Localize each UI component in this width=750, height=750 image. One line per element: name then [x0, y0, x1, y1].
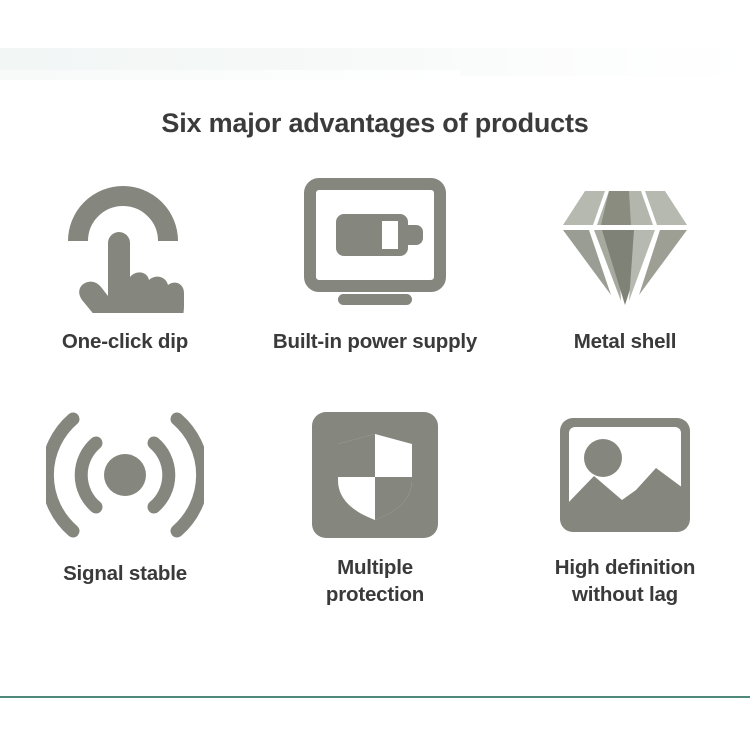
promo-feature-panel: Six major advantages of products One-cli…: [0, 0, 750, 750]
feature-item-metal-shell: Metal shell: [500, 168, 750, 400]
feature-item-high-definition: High definition without lag: [500, 400, 750, 632]
diamond-gem-icon: [559, 168, 691, 318]
feature-grid: One-click dip: [0, 168, 750, 632]
feature-label: Built-in power supply: [273, 328, 477, 355]
feature-label: Multiple protection: [326, 554, 424, 608]
feature-label: One-click dip: [62, 328, 188, 355]
feature-item-built-in-power-supply: Built-in power supply: [250, 168, 500, 400]
feature-label: Signal stable: [63, 560, 187, 587]
feature-label-line: protection: [326, 581, 424, 608]
top-accent-band-secondary: [0, 70, 460, 80]
feature-label: Metal shell: [574, 328, 677, 355]
bottom-divider: [0, 696, 750, 698]
feature-row-2: Signal stable: [0, 400, 750, 632]
feature-item-one-click-dip: One-click dip: [0, 168, 250, 400]
feature-label-line: High definition: [555, 554, 695, 581]
feature-item-multiple-protection: Multiple protection: [250, 400, 500, 632]
feature-label: High definition without lag: [555, 554, 695, 608]
feature-label-line: without lag: [555, 581, 695, 608]
shield-protection-icon: [312, 400, 438, 550]
feature-row-1: One-click dip: [0, 168, 750, 400]
monitor-battery-icon: [304, 168, 446, 318]
feature-item-signal-stable: Signal stable: [0, 400, 250, 632]
page-title: Six major advantages of products: [0, 108, 750, 139]
image-picture-icon: [560, 400, 690, 550]
feature-label-line: Multiple: [326, 554, 424, 581]
signal-waves-icon: [46, 400, 204, 550]
one-click-touch-icon: [64, 168, 186, 318]
